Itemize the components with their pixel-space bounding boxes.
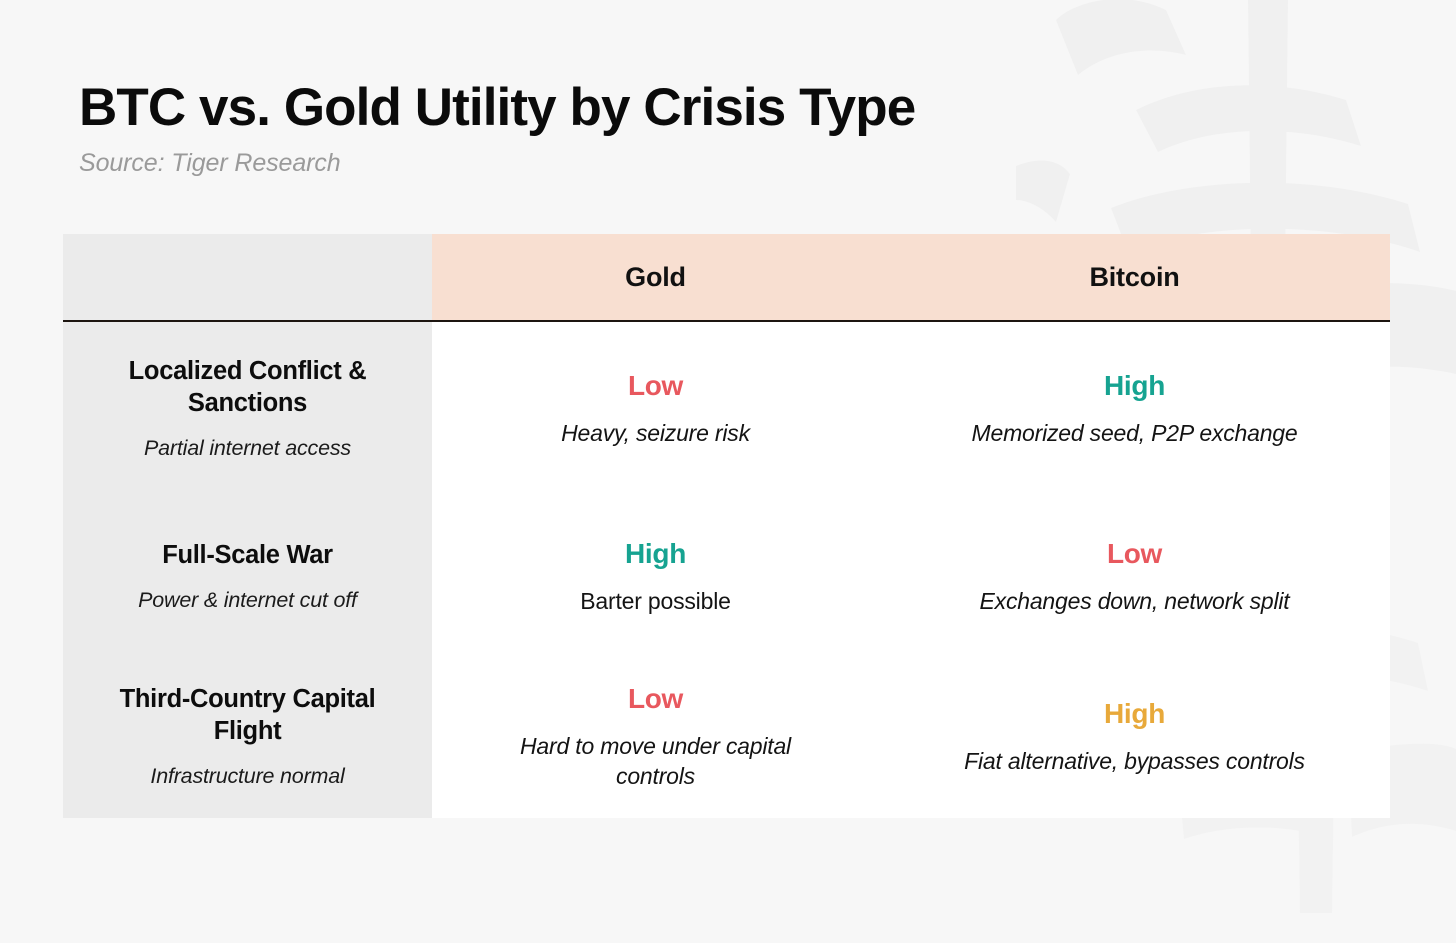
table-row: Localized Conflict & Sanctions Partial i… <box>63 322 1390 498</box>
bitcoin-rating: Low <box>1107 539 1162 570</box>
gold-detail: Hard to move under capital controls <box>506 731 806 792</box>
column-header-bitcoin: Bitcoin <box>879 234 1390 320</box>
bitcoin-rating: High <box>1104 699 1165 730</box>
crisis-note: Infrastructure normal <box>150 763 344 790</box>
crisis-name: Third-Country Capital Flight <box>89 684 406 748</box>
gold-cell: Low Hard to move under capital controls <box>432 658 879 818</box>
table-body: Localized Conflict & Sanctions Partial i… <box>63 322 1390 818</box>
bitcoin-detail: Fiat alternative, bypasses controls <box>964 746 1305 777</box>
bitcoin-detail: Memorized seed, P2P exchange <box>972 418 1298 449</box>
table-header-row: Gold Bitcoin <box>63 234 1390 322</box>
bitcoin-cell: High Memorized seed, P2P exchange <box>879 322 1390 498</box>
column-header-gold: Gold <box>432 234 879 320</box>
source-label: Source: Tiger Research <box>79 149 1379 178</box>
table-row: Third-Country Capital Flight Infrastruct… <box>63 658 1390 818</box>
gold-rating: High <box>625 539 686 570</box>
gold-rating: Low <box>628 371 683 402</box>
gold-cell: High Barter possible <box>432 498 879 658</box>
column-header-bitcoin-label: Bitcoin <box>1089 262 1179 293</box>
gold-rating: Low <box>628 684 683 715</box>
row-label-cell: Third-Country Capital Flight Infrastruct… <box>63 658 432 818</box>
bitcoin-detail: Exchanges down, network split <box>980 586 1290 617</box>
infographic-page: BTC vs. Gold Utility by Crisis Type Sour… <box>0 0 1456 883</box>
bitcoin-cell: Low Exchanges down, network split <box>879 498 1390 658</box>
bitcoin-cell: High Fiat alternative, bypasses controls <box>879 658 1390 818</box>
gold-detail: Barter possible <box>580 586 730 617</box>
column-header-gold-label: Gold <box>625 262 686 293</box>
gold-detail: Heavy, seizure risk <box>561 418 750 449</box>
page-title: BTC vs. Gold Utility by Crisis Type <box>79 80 1379 136</box>
crisis-name: Full-Scale War <box>162 540 333 572</box>
table-row: Full-Scale War Power & internet cut off … <box>63 498 1390 658</box>
gold-cell: Low Heavy, seizure risk <box>432 322 879 498</box>
row-label-cell: Localized Conflict & Sanctions Partial i… <box>63 322 432 498</box>
bitcoin-rating: High <box>1104 371 1165 402</box>
crisis-note: Partial internet access <box>144 435 351 462</box>
crisis-note: Power & internet cut off <box>138 587 357 614</box>
comparison-table: Gold Bitcoin Localized Conflict & Sancti… <box>63 234 1390 818</box>
row-label-cell: Full-Scale War Power & internet cut off <box>63 498 432 658</box>
column-header-crisis <box>63 234 432 320</box>
header-block: BTC vs. Gold Utility by Crisis Type Sour… <box>79 80 1379 178</box>
crisis-name: Localized Conflict & Sanctions <box>89 356 406 420</box>
